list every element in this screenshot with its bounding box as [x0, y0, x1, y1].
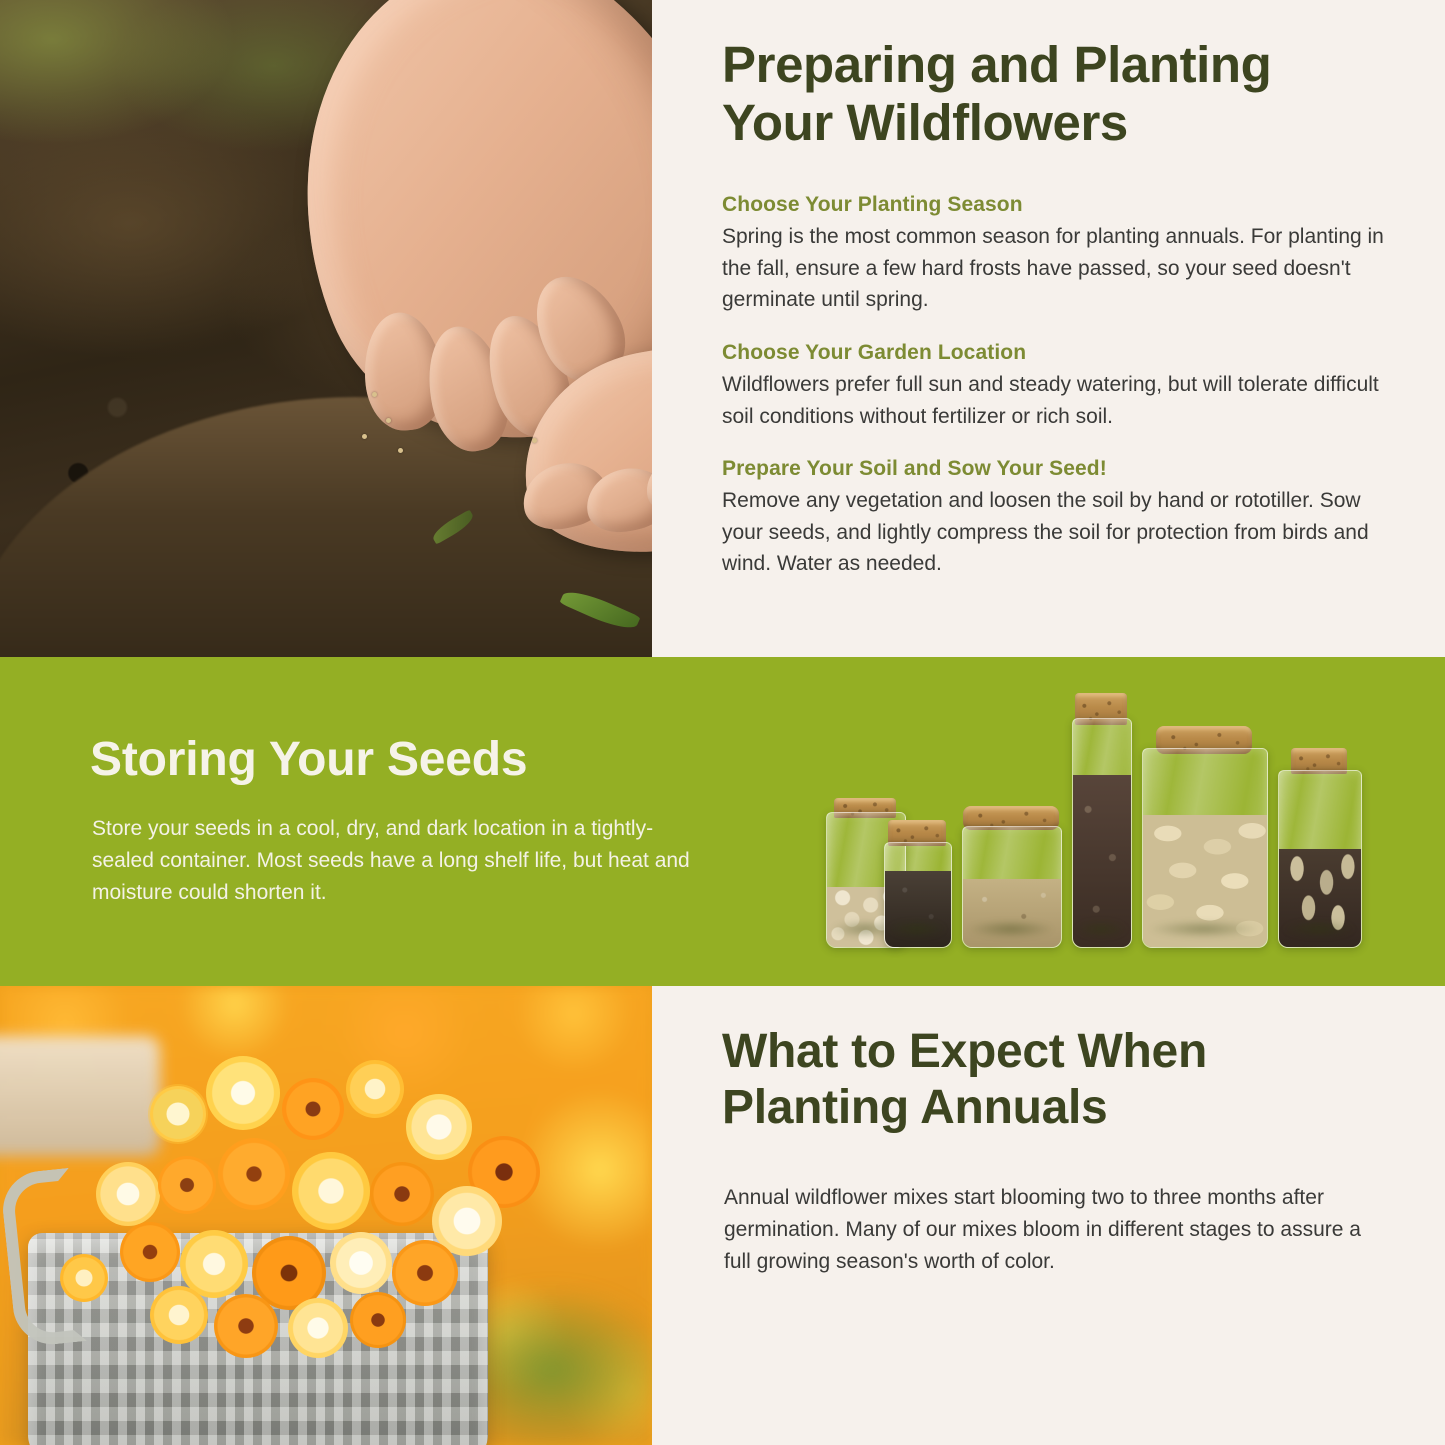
preparing-planting-section: Preparing and Planting Your Wildflowers …: [652, 0, 1445, 657]
infographic-page: Preparing and Planting Your Wildflowers …: [0, 0, 1445, 1445]
flower: [288, 1298, 348, 1358]
sowing-seeds-photo: [0, 0, 652, 657]
calendula-basket-photo: [0, 986, 652, 1445]
flower: [330, 1232, 392, 1294]
step-garden-location: Choose Your Garden Location Wildflowers …: [722, 340, 1390, 432]
flower: [218, 1138, 290, 1210]
flower: [150, 1286, 208, 1344]
jar-shadow: [1075, 920, 1126, 938]
jar-shadow: [888, 920, 946, 938]
flower: [292, 1152, 370, 1230]
what-to-expect-section: What to Expect When Planting Annuals Ann…: [652, 986, 1445, 1445]
preparing-steps-list: Choose Your Planting Season Spring is th…: [722, 192, 1390, 604]
flower: [406, 1094, 472, 1160]
table-edge: [0, 1036, 160, 1156]
jar-shadow: [1283, 920, 1355, 938]
step-body: Wildflowers prefer full sun and steady w…: [722, 369, 1390, 432]
step-subheading: Prepare Your Soil and Sow Your Seed!: [722, 456, 1390, 482]
step-body: Spring is the most common season for pla…: [722, 221, 1390, 316]
sunflower-seeds-jar: [1278, 748, 1360, 948]
flower: [150, 1086, 206, 1142]
what-to-expect-title: What to Expect When Planting Annuals: [722, 1024, 1382, 1136]
flower: [120, 1222, 180, 1282]
step-subheading: Choose Your Planting Season: [722, 192, 1390, 218]
tan-grain-jar: [962, 806, 1060, 948]
dark-seeds-tube: [1072, 693, 1130, 948]
flower: [346, 1060, 404, 1118]
black-seeds-jar: [884, 820, 950, 948]
flower: [96, 1162, 160, 1226]
storing-seeds-body: Store your seeds in a cool, dry, and dar…: [92, 813, 707, 909]
falling-seed-3: [362, 434, 367, 439]
falling-seed-5: [532, 438, 537, 443]
falling-seed-1: [372, 392, 377, 397]
pumpkin-seeds-jar: [1142, 726, 1266, 948]
step-body: Remove any vegetation and loosen the soi…: [722, 485, 1390, 580]
flower: [370, 1162, 434, 1226]
jar-shadow: [968, 920, 1054, 938]
flower: [350, 1292, 406, 1348]
flower: [158, 1156, 216, 1214]
falling-seed-2: [386, 418, 391, 423]
page-title: Preparing and Planting Your Wildflowers: [722, 36, 1392, 151]
step-subheading: Choose Your Garden Location: [722, 340, 1390, 366]
step-prepare-soil: Prepare Your Soil and Sow Your Seed! Rem…: [722, 456, 1390, 580]
flower: [206, 1056, 280, 1130]
flower: [60, 1254, 108, 1302]
jar-shadow: [1149, 920, 1258, 938]
storing-seeds-title: Storing Your Seeds: [90, 732, 527, 787]
step-planting-season: Choose Your Planting Season Spring is th…: [722, 192, 1390, 316]
flower: [282, 1078, 344, 1140]
falling-seed-4: [398, 448, 403, 453]
seed-jars-photo: [820, 680, 1380, 970]
flower: [214, 1294, 278, 1358]
what-to-expect-body: Annual wildflower mixes start blooming t…: [724, 1182, 1369, 1278]
jar-glass: [1142, 748, 1268, 948]
jar-glass: [1072, 718, 1132, 948]
flower: [392, 1240, 458, 1306]
